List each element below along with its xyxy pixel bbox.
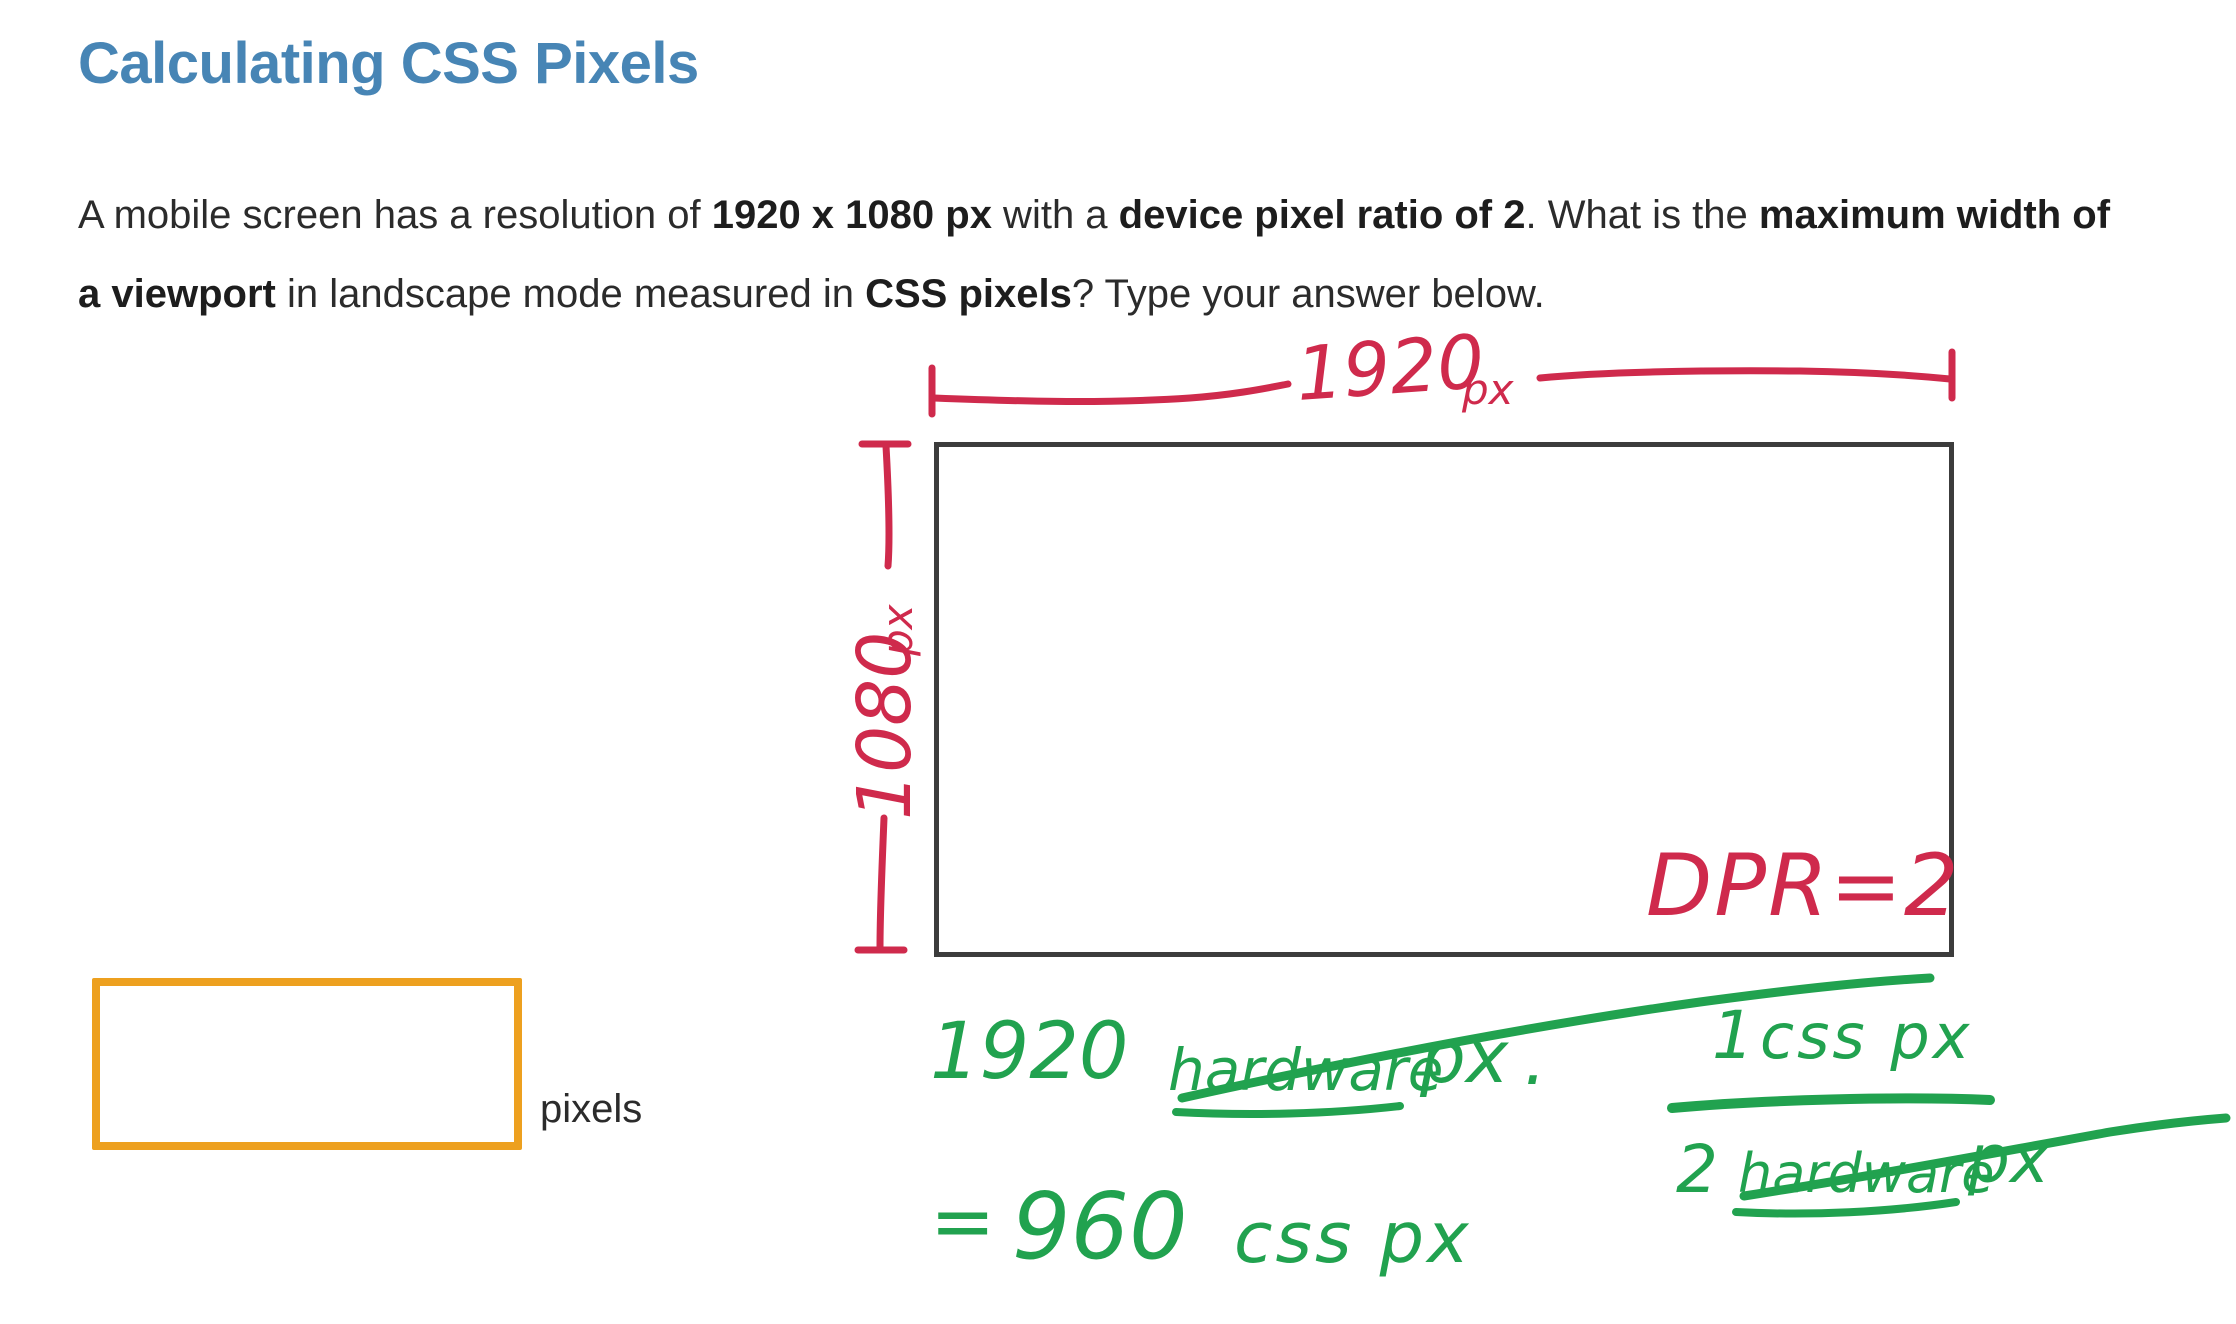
screen-rectangle	[934, 442, 1954, 957]
result-equals: =	[930, 1177, 995, 1267]
height-label-value: 1080	[842, 632, 928, 820]
question-segment-2: with a	[992, 193, 1119, 237]
work-line1-struck-word: hardware	[1168, 1036, 1443, 1104]
work-line1-unit: px	[1419, 1015, 1510, 1099]
question-segment-4: . What is the	[1525, 193, 1758, 237]
answer-input[interactable]	[92, 978, 522, 1150]
question-segment-1: 1920 x 1080 px	[712, 193, 992, 237]
fraction-denominator-struck-word: hardware	[1738, 1142, 1994, 1205]
work-line1-number: 1920	[930, 1007, 1129, 1097]
width-dimension-line	[932, 352, 1952, 414]
question-text: A mobile screen has a resolution of 1920…	[78, 176, 2118, 334]
fraction-denominator-strikethrough	[1736, 1118, 2226, 1214]
slide-canvas: Calculating CSS Pixels A mobile screen h…	[0, 0, 2236, 1324]
work-line1-operator: .	[1524, 1019, 1546, 1101]
width-label-unit: px	[1461, 365, 1515, 414]
question-segment-8: ? Type your answer below.	[1072, 272, 1545, 316]
fraction-denominator-unit: px	[1967, 1121, 2050, 1198]
fraction-numerator-number: 1	[1712, 997, 1754, 1074]
question-segment-0: A mobile screen has a resolution of	[78, 193, 712, 237]
result-unit: css px	[1234, 1197, 1472, 1279]
fraction-denominator-number: 2	[1676, 1131, 1718, 1208]
question-segment-3: device pixel ratio of 2	[1119, 193, 1526, 237]
fraction-numerator-unit: css px	[1760, 1000, 1972, 1073]
height-dimension-line	[858, 444, 908, 950]
fraction-bar	[1672, 1098, 1990, 1108]
question-segment-7: CSS pixels	[865, 272, 1072, 316]
work-line1-strikethrough	[1176, 978, 1930, 1114]
height-label-1080: 1080	[842, 632, 928, 820]
question-segment-6: in landscape mode measured in	[276, 272, 865, 316]
answer-row: pixels	[92, 978, 642, 1150]
height-label-unit: px	[873, 603, 922, 657]
answer-unit-label: pixels	[540, 1087, 642, 1132]
page-title: Calculating CSS Pixels	[78, 30, 699, 97]
result-number: 960	[1012, 1173, 1188, 1280]
